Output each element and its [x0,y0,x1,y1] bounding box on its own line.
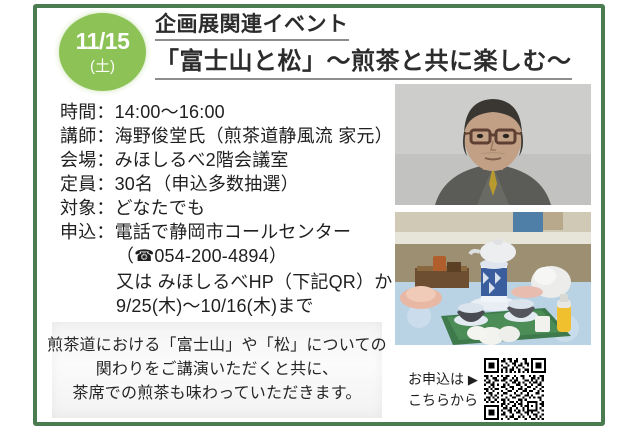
detail-venue: 会場：みほしるべ2階会議室 [60,148,390,172]
detail-audience: 対象：どなたでも [60,196,390,220]
triangle-right-icon: ▶ [468,372,478,387]
portrait-photo-graphic [395,84,591,205]
detail-capacity: 定員：30名（申込多数抽選） [60,172,390,196]
detail-time: 時間：14:00～16:00 [60,100,390,124]
detail-apply-phone-row: （☎054-200-4894） [60,244,390,270]
qr-application-block[interactable]: お申込は ▶ こちらから [408,358,593,420]
detail-lecturer: 講師：海野俊堂氏（煎茶道静風流 家元） [60,124,390,148]
headline: 企画展関連イベント 「富士山と松」～煎茶と共に楽しむ～ [155,13,585,80]
qr-code-graphic [484,358,546,420]
description-line-1: 煎茶道における「富士山」や「松」についての [47,334,387,358]
qr-caption: お申込は ▶ こちらから [408,369,478,410]
telephone-icon: ☎ [134,245,154,269]
lecturer-portrait-photo [395,84,591,205]
qr-code-image[interactable] [484,358,546,420]
qr-caption-line-1: お申込は ▶ [408,369,478,390]
detail-apply-web: 又は みほしるべHP（下記QR）から [60,270,390,294]
description-line-2: 関わりをご講演いただくと共に、 [96,358,339,382]
detail-apply-method: 申込：電話で静岡市コールセンター [60,220,390,244]
date-badge-date: 11/15 [76,30,130,53]
event-poster: 11/15 (土) 企画展関連イベント 「富士山と松」～煎茶と共に楽しむ～ 時間… [0,0,640,443]
event-details: 時間：14:00～16:00 講師：海野俊堂氏（煎茶道静風流 家元） 会場：みほ… [60,100,390,318]
qr-caption-line-2: こちらから [408,390,478,410]
description-box: 煎茶道における「富士山」や「松」についての 関わりをご講演いただくと共に、 茶席… [52,322,382,418]
headline-line-2: 「富士山と松」～煎茶と共に楽しむ～ [155,48,572,80]
tea-photo-graphic [395,212,591,345]
tea-ceremony-photo [395,212,591,345]
date-badge: 11/15 (土) [59,13,146,91]
detail-apply-phone-number: 054-200-4894） [154,246,287,266]
description-line-3: 茶席での煎茶も味わっていただきます。 [72,382,361,406]
headline-line-1: 企画展関連イベント [155,13,349,41]
phone-paren-open: （ [116,246,134,266]
detail-apply-period: 9/25(木)～10/16(木)まで [60,294,390,318]
date-badge-day-of-week: (土) [90,59,115,74]
qr-caption-text-1: お申込は [408,371,464,387]
